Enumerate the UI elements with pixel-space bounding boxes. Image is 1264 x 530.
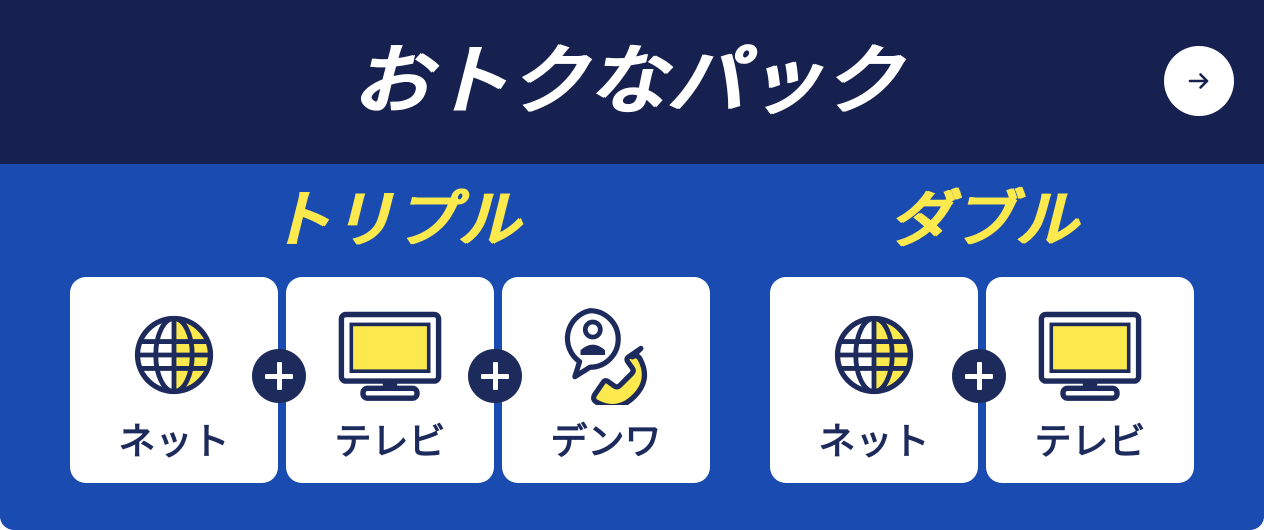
phone-icon (554, 305, 658, 405)
television-icon (336, 309, 444, 401)
group-triple-cards: ネット テレビ (70, 277, 718, 483)
card-tv[interactable]: テレビ (986, 277, 1194, 483)
card-tv-icon-wrap (1036, 303, 1144, 407)
card-net-icon-wrap (126, 303, 222, 407)
plus-vertical-bar (493, 362, 498, 390)
group-triple-title: トリプル (70, 164, 718, 252)
group-double-cards: ネット テレビ (770, 277, 1196, 483)
card-tv-icon-wrap (336, 303, 444, 407)
card-phone[interactable]: デンワ (502, 277, 710, 483)
promo-banner: おトクなパック トリプル (0, 0, 1264, 530)
globe-icon (826, 307, 922, 403)
card-net-icon-wrap (826, 303, 922, 407)
globe-icon (126, 307, 222, 403)
card-net[interactable]: ネット (770, 277, 978, 483)
card-net[interactable]: ネット (70, 277, 278, 483)
plus-vertical-bar (977, 362, 982, 390)
card-tv[interactable]: テレビ (286, 277, 494, 483)
television-icon (1036, 309, 1144, 401)
group-double: ダブル (770, 164, 1196, 483)
plus-separator (252, 349, 306, 403)
card-tv-label: テレビ (335, 423, 446, 460)
card-net-label: ネット (119, 423, 230, 460)
group-triple: トリプル (70, 164, 718, 483)
card-tv-label: テレビ (1035, 423, 1146, 460)
card-phone-icon-wrap (554, 303, 658, 407)
plus-vertical-bar (277, 362, 282, 390)
banner-body: トリプル (0, 164, 1264, 530)
next-arrow-button[interactable] (1164, 46, 1234, 116)
plus-separator (468, 349, 522, 403)
card-net-label: ネット (819, 423, 930, 460)
card-phone-label: デンワ (551, 423, 662, 460)
plus-separator (952, 349, 1006, 403)
group-double-title: ダブル (770, 164, 1196, 252)
page-title: おトクなパック (351, 44, 901, 120)
arrow-right-icon (1182, 64, 1216, 98)
banner-header: おトクなパック (0, 0, 1264, 164)
